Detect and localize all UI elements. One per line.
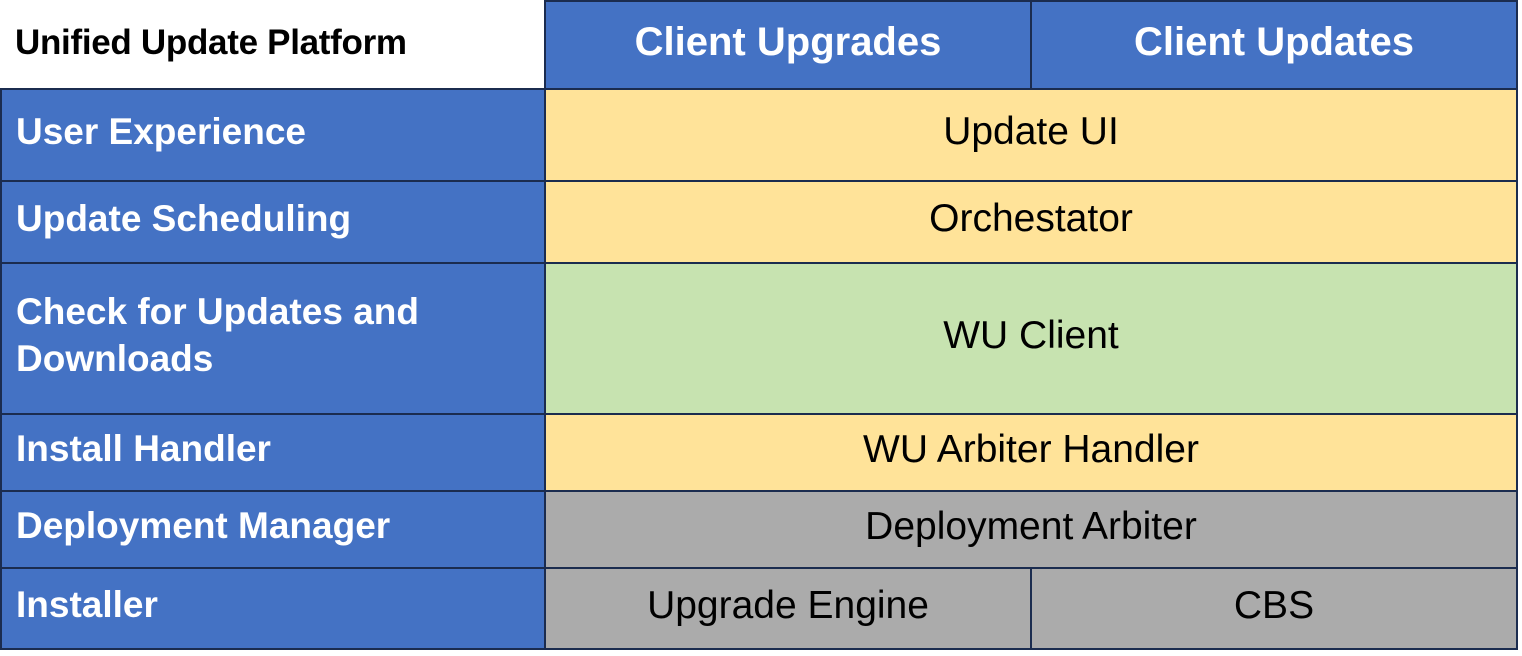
cell-cbs: CBS [1031,568,1517,649]
unified-update-platform-table: Unified Update Platform Client Upgrades … [0,0,1518,650]
cell-deployment-arbiter: Deployment Arbiter [545,491,1517,568]
cell-wu-arbiter-handler: WU Arbiter Handler [545,414,1517,491]
row-label-installer: Installer [1,568,545,649]
row-label-line-1: Check for Updates and [16,291,419,332]
table-header-row: Unified Update Platform Client Upgrades … [1,1,1517,89]
cell-update-ui: Update UI [545,89,1517,181]
row-label-update-scheduling: Update Scheduling [1,181,545,263]
column-header-client-updates: Client Updates [1031,1,1517,89]
row-label-user-experience: User Experience [1,89,545,181]
column-header-client-upgrades: Client Upgrades [545,1,1031,89]
row-label-check-for-updates-and-downloads: Check for Updates and Downloads [1,263,545,414]
table-row: Deployment Manager Deployment Arbiter [1,491,1517,568]
cell-orchestator: Orchestator [545,181,1517,263]
cell-upgrade-engine: Upgrade Engine [545,568,1031,649]
table-row: Check for Updates and Downloads WU Clien… [1,263,1517,414]
table-corner-title: Unified Update Platform [1,1,545,89]
row-label-install-handler: Install Handler [1,414,545,491]
table-row: Install Handler WU Arbiter Handler [1,414,1517,491]
table-row: Update Scheduling Orchestator [1,181,1517,263]
cell-wu-client: WU Client [545,263,1517,414]
row-label-deployment-manager: Deployment Manager [1,491,545,568]
table-row: Installer Upgrade Engine CBS [1,568,1517,649]
table-row: User Experience Update UI [1,89,1517,181]
row-label-line-2: Downloads [16,338,213,379]
